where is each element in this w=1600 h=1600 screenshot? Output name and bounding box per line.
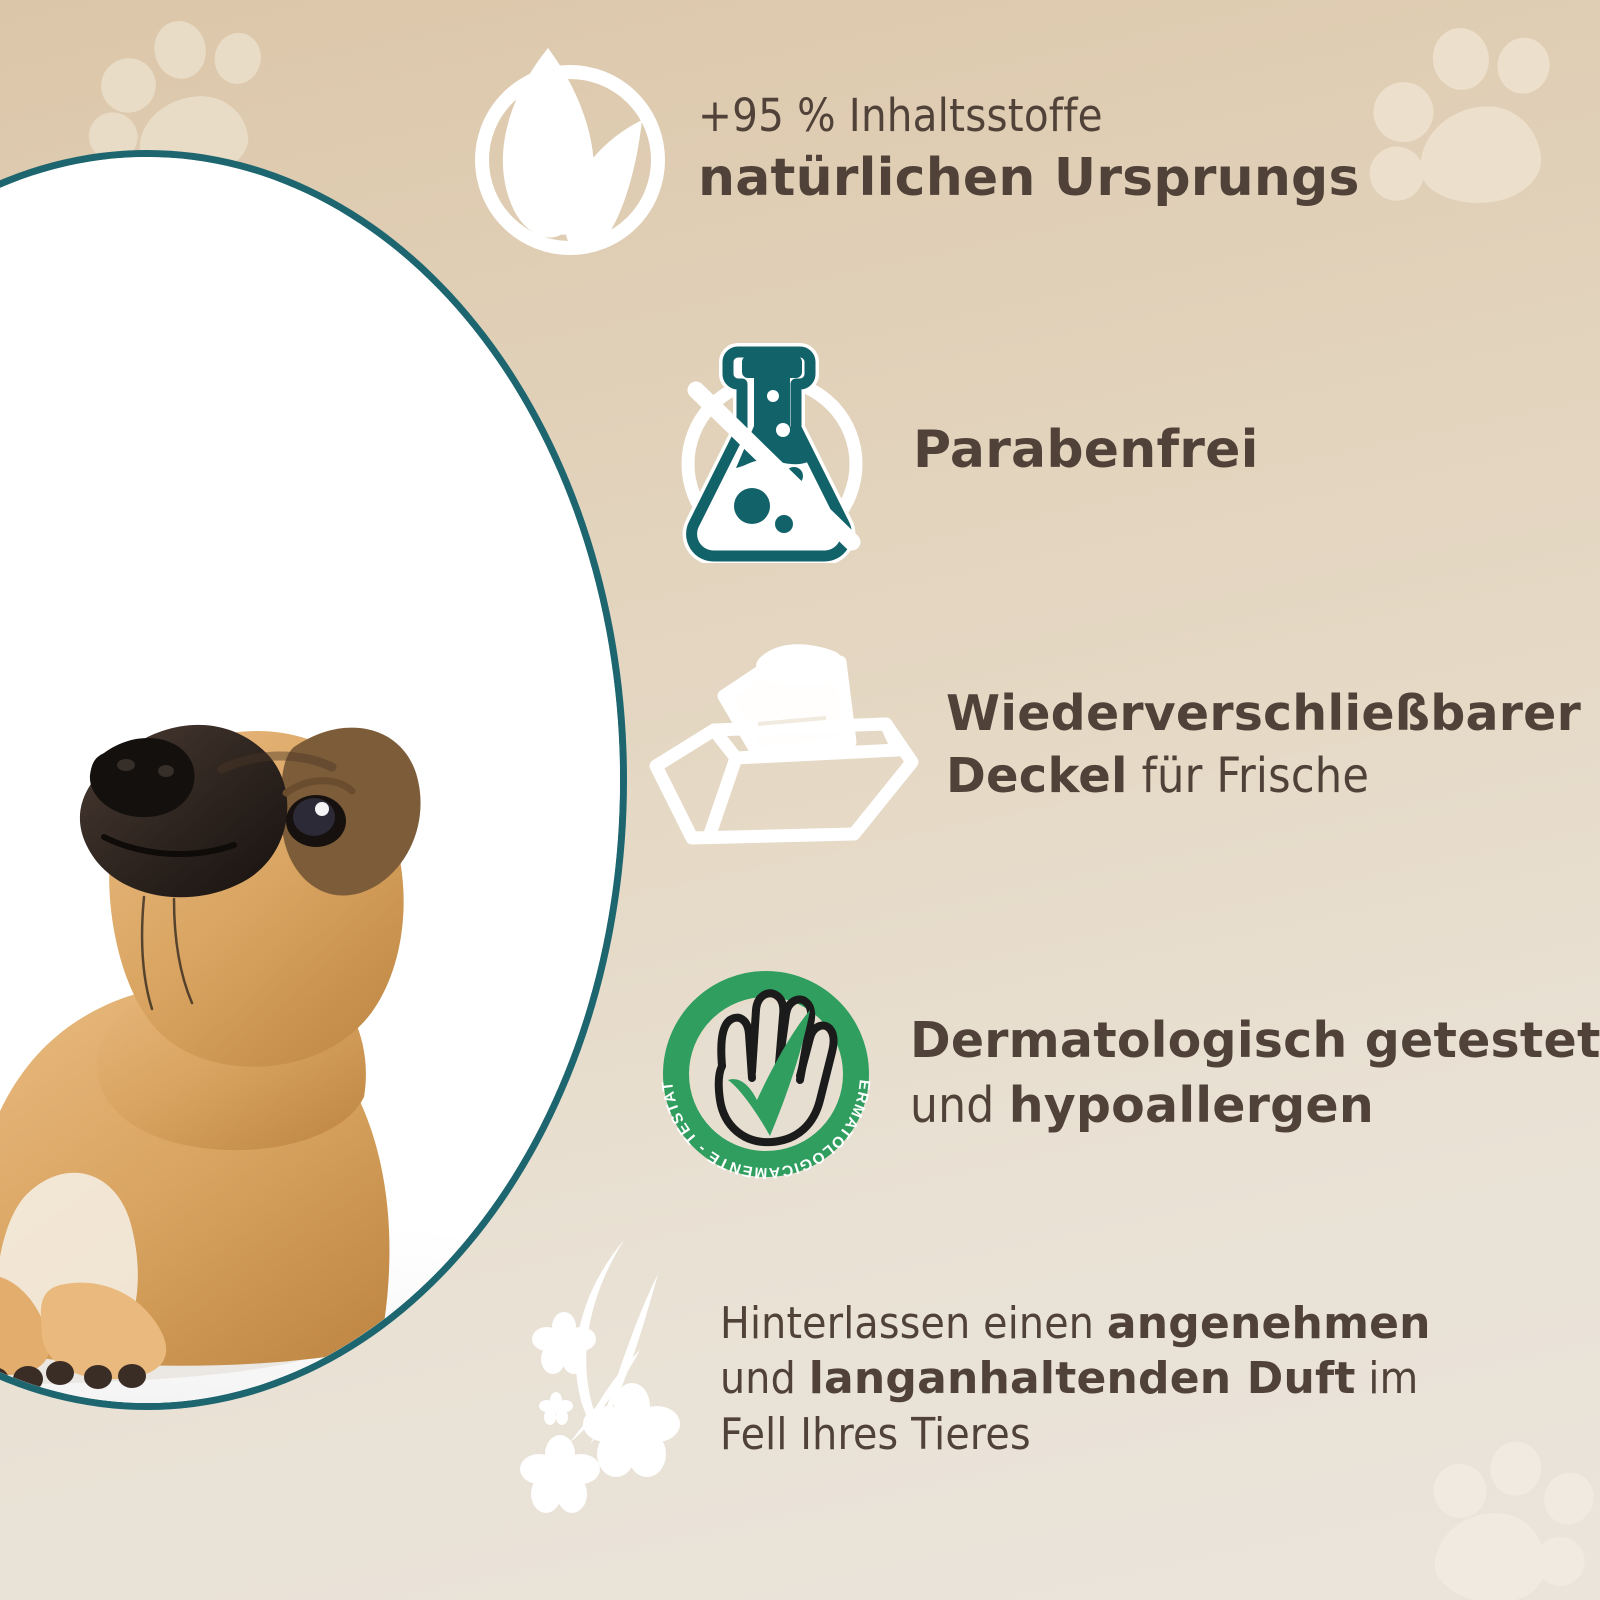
wet-wipes-pack-icon	[640, 638, 930, 853]
promo-poster: +95 % Inhaltsstoffe natürlichen Ursprung…	[0, 0, 1600, 1600]
leaf-circle-icon	[470, 42, 670, 257]
feature-scent-line2-bold: langanhaltenden Duft	[809, 1353, 1356, 1404]
feature-derma-line2-rest: und	[910, 1077, 1009, 1134]
feature-natural-line1: +95 % Inhaltsstoffe	[698, 90, 1360, 142]
feature-derma-line2-bold: hypoallergen	[1009, 1077, 1374, 1134]
feature-lid-line2-rest: für Frische	[1128, 748, 1369, 804]
feature-scent-line1: Hinterlassen einen angenehmen	[720, 1298, 1431, 1349]
feature-scent-line1-bold: angenehmen	[1107, 1298, 1431, 1349]
feature-lid-line1: Wiederverschließbarer	[946, 686, 1581, 743]
paw-top-right-icon	[1348, 11, 1576, 226]
feature-pleasant-scent: Hinterlassen einen angenehmen und langan…	[512, 1232, 1431, 1522]
feature-scent-text: Hinterlassen einen angenehmen und langan…	[720, 1294, 1431, 1459]
feature-scent-line2: und langanhaltenden Duft im	[720, 1353, 1431, 1404]
feature-lid-line2-bold: Deckel	[946, 748, 1128, 804]
feature-derma-text: Dermatologisch getestet und hypoallergen	[910, 1013, 1600, 1135]
feature-scent-line2-tail: im	[1356, 1353, 1419, 1404]
feature-derma-line1: Dermatologisch getestet	[910, 1013, 1600, 1070]
feature-derma-line2: und hypoallergen	[910, 1078, 1600, 1135]
feature-natural-text: +95 % Inhaltsstoffe natürlichen Ursprung…	[698, 90, 1360, 209]
feature-scent-line1-rest: Hinterlassen einen	[720, 1298, 1107, 1349]
feature-lid-line2: Deckel für Frische	[946, 749, 1581, 805]
pet-photo-illustration	[0, 157, 620, 1403]
feature-paraben-text: Parabenfrei	[913, 420, 1259, 480]
feature-resealable-lid: Wiederverschließbarer Deckel für Frische	[640, 638, 1581, 853]
feature-lid-text: Wiederverschließbarer Deckel für Frische	[946, 686, 1581, 805]
dermatologically-tested-badge-icon: DERMATOLOGICAMENTE - TESTATO	[660, 968, 872, 1180]
feature-natural-ingredients: +95 % Inhaltsstoffe natürlichen Ursprung…	[470, 42, 1360, 257]
feature-paraben-free: Parabenfrei	[672, 338, 1259, 563]
pet-photo	[0, 157, 620, 1403]
feature-paraben-line1: Parabenfrei	[913, 420, 1259, 480]
pet-photo-circle	[0, 150, 627, 1410]
paw-bottom-right-icon	[1409, 1428, 1600, 1600]
no-paraben-flask-icon	[672, 338, 877, 563]
feature-scent-line2-rest: und	[720, 1353, 809, 1404]
feature-natural-line2: natürlichen Ursprungs	[698, 148, 1360, 208]
feature-scent-line3: Fell Ihres Tieres	[720, 1409, 1431, 1460]
flowers-scent-icon	[512, 1232, 692, 1522]
feature-dermatologically-tested: DERMATOLOGICAMENTE - TESTATO Dermatologi…	[660, 968, 1600, 1180]
